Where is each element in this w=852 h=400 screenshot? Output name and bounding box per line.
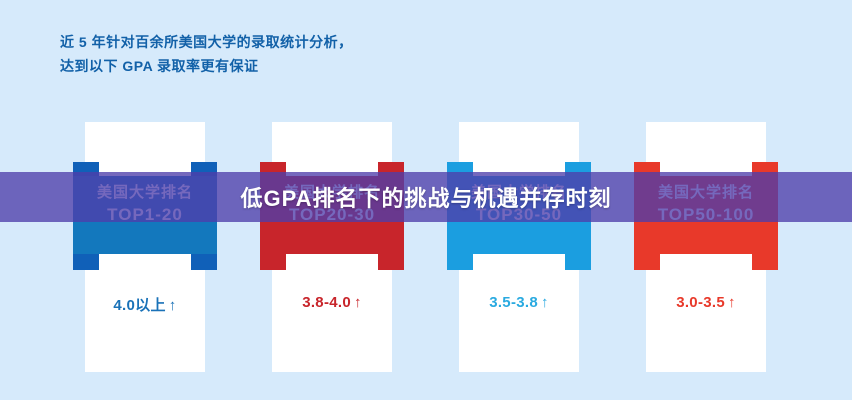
arrow-up-icon: ↑ xyxy=(169,297,177,314)
arrow-up-icon: ↑ xyxy=(541,294,549,311)
infographic-poster: 近 5 年针对百余所美国大学的录取统计分析， 达到以下 GPA 录取率更有保证 … xyxy=(0,0,852,400)
bracket-leg-left xyxy=(634,254,660,270)
ranking-card[interactable]: 美国大学排名 TOP20-30 3.8-4.0↑ xyxy=(272,122,392,372)
ranking-card[interactable]: 美国大学排名 TOP50-100 3.0-3.5↑ xyxy=(646,122,766,372)
bracket-leg-right xyxy=(191,254,217,270)
arrow-up-icon: ↑ xyxy=(728,294,736,311)
card-deck: 美国大学排名 TOP1-20 4.0以上↑ 美国大学排名 TOP20-30 xyxy=(0,122,852,374)
bracket-leg-right xyxy=(752,254,778,270)
card-gpa: 3.0-3.5↑ xyxy=(646,294,766,311)
ranking-card[interactable]: 美国大学排名 TOP1-20 4.0以上↑ xyxy=(85,122,205,372)
header-line-1: 近 5 年针对百余所美国大学的录取统计分析， xyxy=(60,30,620,54)
card-gpa: 4.0以上↑ xyxy=(85,294,205,315)
card-gpa-value: 3.8-4.0 xyxy=(302,294,351,311)
header-block: 近 5 年针对百余所美国大学的录取统计分析， 达到以下 GPA 录取率更有保证 xyxy=(60,30,620,78)
bracket-leg-left xyxy=(73,254,99,270)
bracket-leg-left xyxy=(260,254,286,270)
header-line-2: 达到以下 GPA 录取率更有保证 xyxy=(60,54,620,78)
card-gpa: 3.8-4.0↑ xyxy=(272,294,392,311)
bracket-leg-right xyxy=(565,254,591,270)
card-gpa-value: 4.0以上 xyxy=(113,297,165,314)
overlay-banner-text: 低GPA排名下的挑战与机遇并存时刻 xyxy=(240,181,611,213)
card-gpa-value: 3.5-3.8 xyxy=(489,294,538,311)
card-gpa-value: 3.0-3.5 xyxy=(676,294,725,311)
bracket-leg-left xyxy=(447,254,473,270)
overlay-banner: 低GPA排名下的挑战与机遇并存时刻 xyxy=(0,172,852,222)
card-gpa: 3.5-3.8↑ xyxy=(459,294,579,311)
arrow-up-icon: ↑ xyxy=(354,294,362,311)
ranking-card[interactable]: 美国大学排名 TOP30-50 3.5-3.8↑ xyxy=(459,122,579,372)
bracket-leg-right xyxy=(378,254,404,270)
